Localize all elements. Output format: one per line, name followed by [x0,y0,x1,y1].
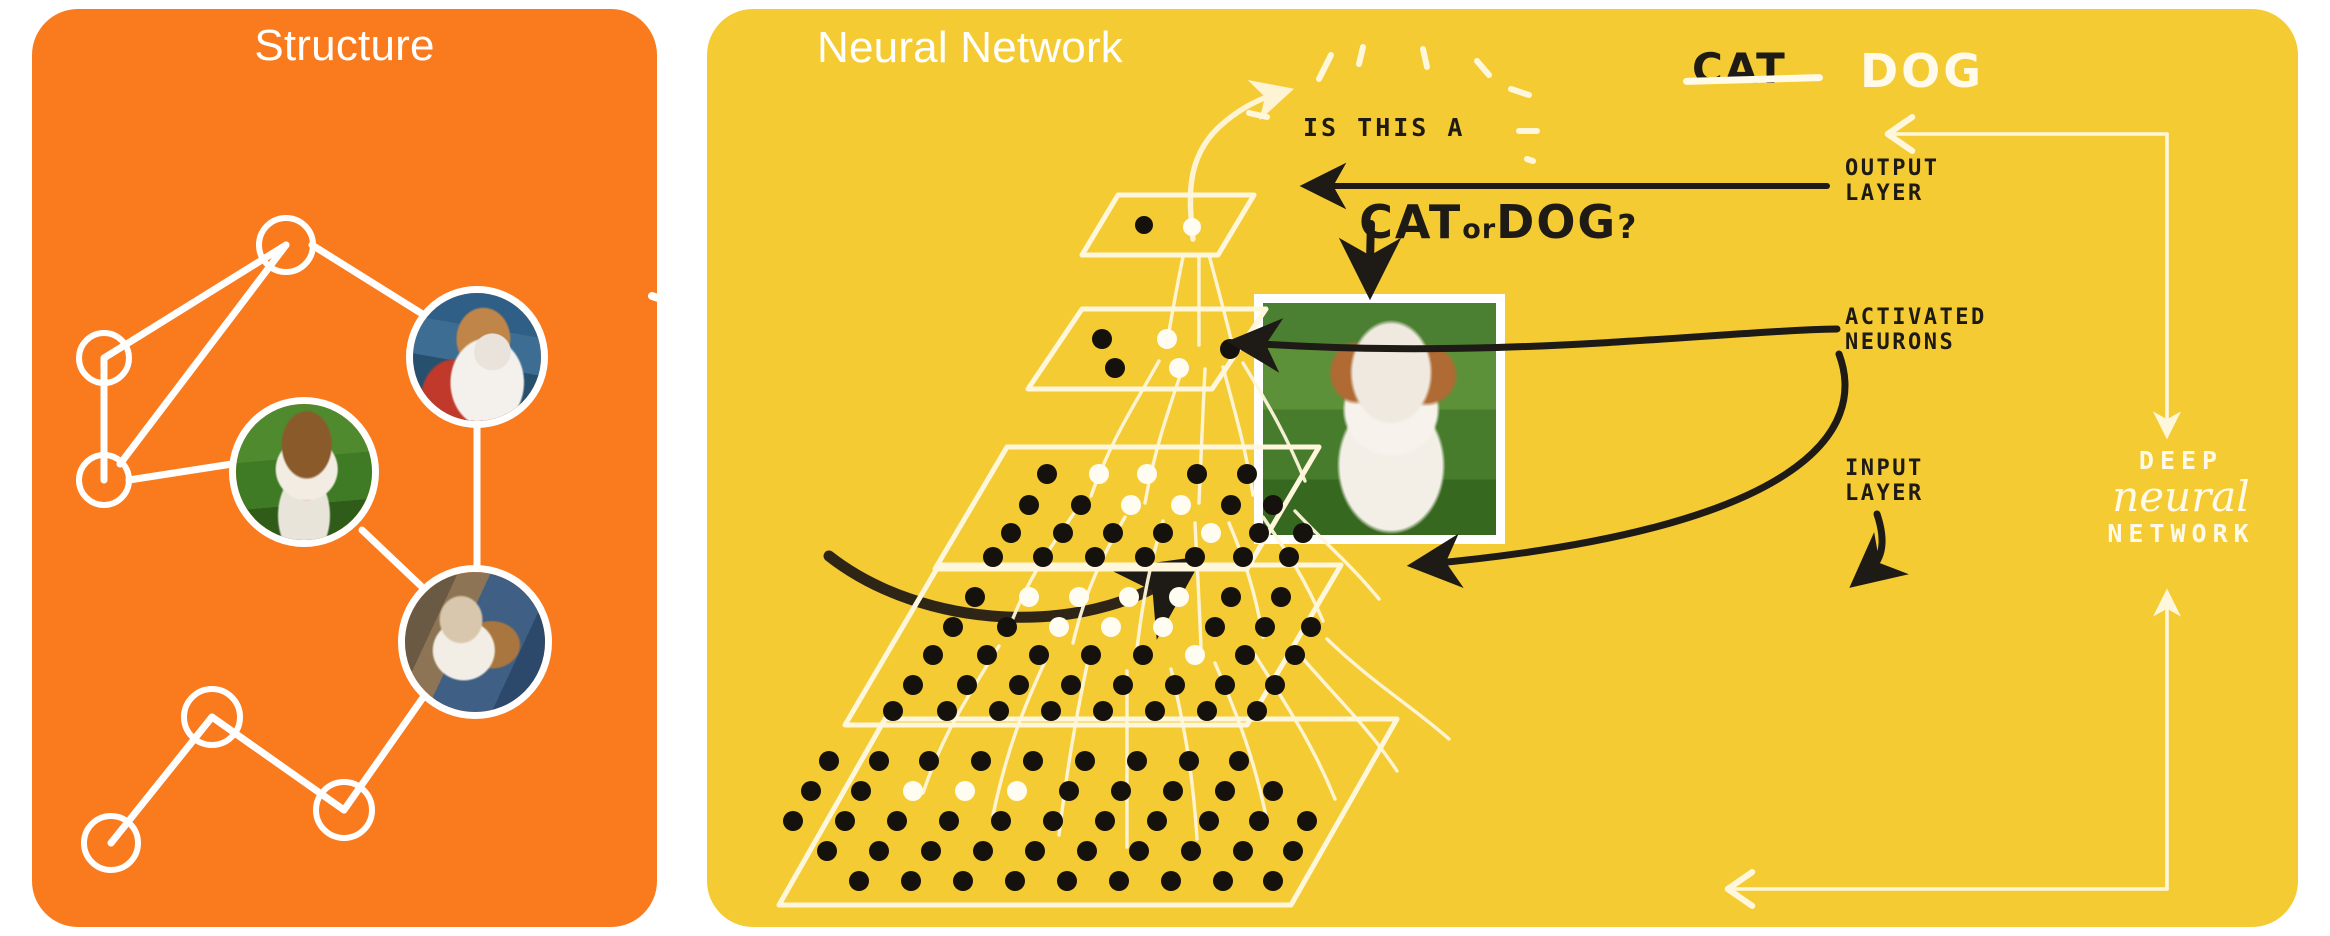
input-image-frame[interactable] [1254,294,1505,544]
graph-edge [129,464,232,480]
output-layer-label: OUTPUT LAYER [1845,157,1939,206]
layer-plane-input[interactable] [779,719,1397,905]
graph-nodes [79,218,372,870]
bulldog-photo [236,404,372,540]
brand-line-neural: neural [2061,476,2301,518]
bulldog-photo [405,572,545,712]
bulldog-puppy-photo [1263,303,1496,535]
graph-edge [344,699,422,810]
structure-panel: Structure [32,9,657,927]
neuron-dark [1105,358,1125,378]
graph-photo-node-bulldog-grass[interactable] [229,397,379,547]
graph-node[interactable] [184,689,240,745]
graph-photo-node-bulldog-blue-carpet[interactable] [406,286,548,428]
brand-line-deep: DEEP [2061,446,2301,475]
input-layer-neurons [783,751,1317,891]
bulldog-photo [413,293,541,421]
graph-edge [212,717,344,810]
brand-line-network: NETWORK [2061,519,2301,548]
structure-panel-title: Structure [32,21,657,71]
graph-edge [111,717,212,843]
verdict-cat-label: CAT [1692,44,1787,93]
layer-plane-hidden-2[interactable] [1028,309,1266,389]
graph-edge [104,245,286,358]
verdict-dog-label: DOG [1860,44,1984,98]
layer-plane-hidden-0[interactable] [845,565,1341,725]
photo-to-network-arrow [829,556,1177,617]
neuron-dark [1092,329,1112,349]
graph-edge [312,245,424,315]
neuron-dark [1220,339,1240,359]
activated-neurons-label: ACTIVATED NEURONS [1845,306,1987,355]
question-mark: ? [1617,207,1638,246]
graph-photo-node-bulldog-puppy[interactable] [398,565,552,719]
question-or-word: or [1462,214,1496,245]
question-cat-word: CAT [1359,195,1462,249]
graph-node[interactable] [316,782,372,838]
question-main-text: CATorDOG? [1251,145,1638,300]
question-prefix-text: IS THIS A [1303,114,1465,142]
graph-node[interactable] [79,333,129,383]
graph-node[interactable] [259,218,313,272]
deep-neural-network-brand: DEEP neural NETWORK [2061,446,2301,548]
dog-sparkles [1249,47,1537,161]
hidden-layer-0-neurons [883,587,1321,721]
graph-node[interactable] [79,455,129,505]
layer-plane-output[interactable] [1082,195,1254,255]
graph-node[interactable] [84,816,138,870]
question-dog-word: DOG [1496,195,1617,249]
neuron-dark [1135,216,1153,234]
panel-gutter [657,9,707,927]
input-layer-label: INPUT LAYER [1845,457,1924,506]
input-layer-callout-arrow [1865,514,1882,575]
neuron-activated [1183,218,1201,236]
infographic-canvas: Structure [0,0,2330,936]
neuron-activated [1169,358,1189,378]
neural-network-panel: Neural Network IS THIS A CATorDOG? CAT D… [707,9,2298,927]
network-panel-title: Neural Network [817,23,1123,73]
neuron-activated [1157,329,1177,349]
neurons [783,216,1321,891]
